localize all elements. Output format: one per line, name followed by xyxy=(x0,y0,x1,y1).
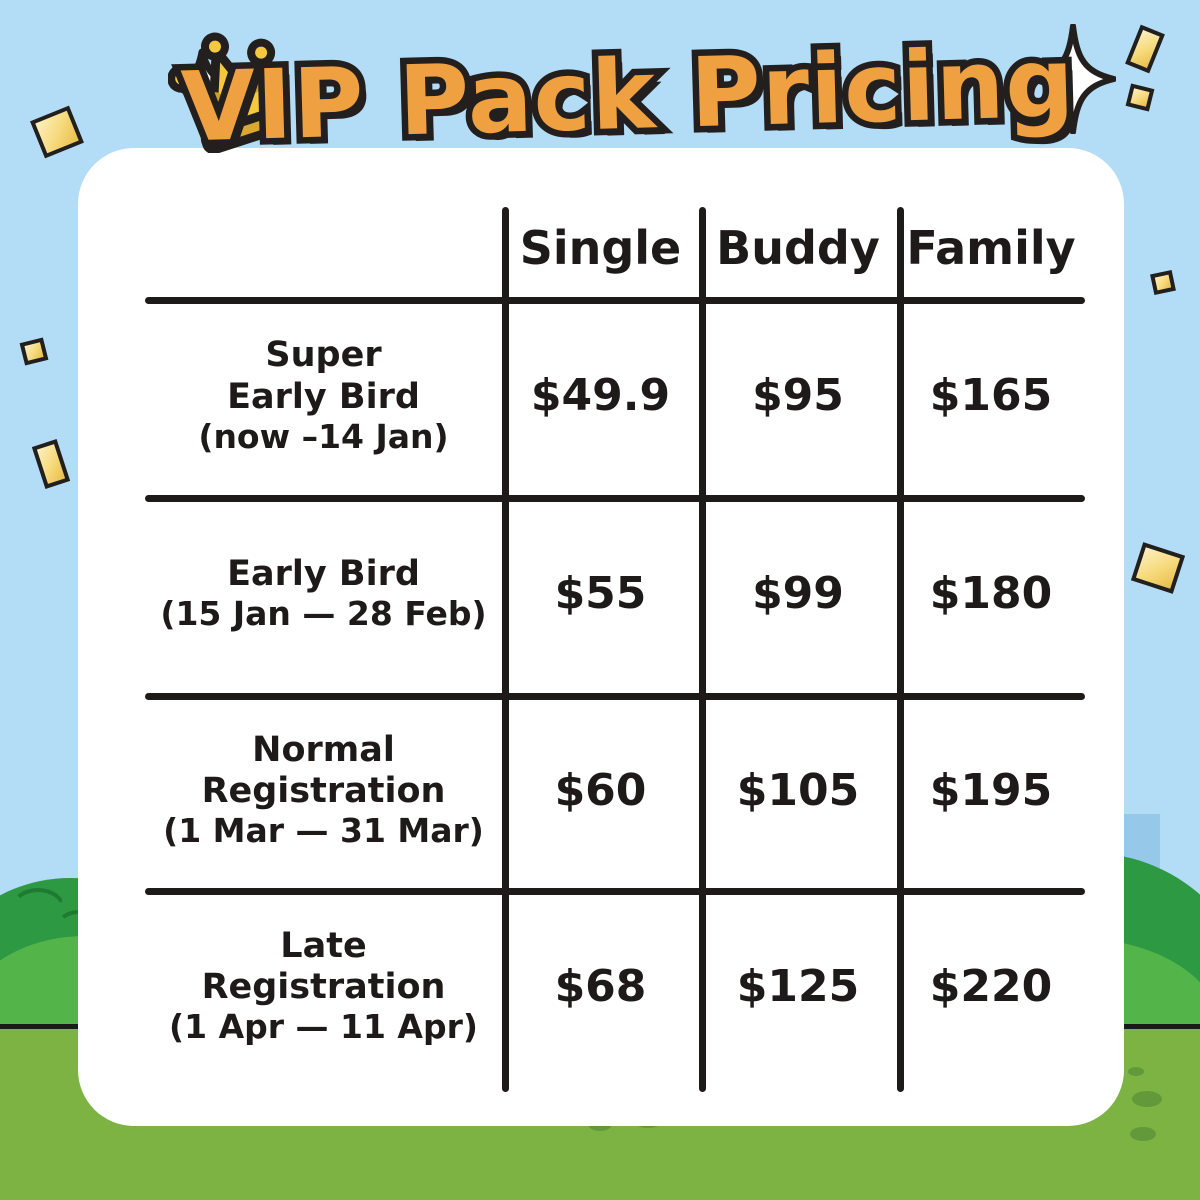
price-family: $165 xyxy=(897,297,1085,495)
table-row-label: Early Bird (15 Jan — 28 Feb) xyxy=(145,495,502,693)
tier-line: Early Bird xyxy=(227,554,420,595)
price-buddy: $99 xyxy=(699,495,897,693)
price-buddy: $95 xyxy=(699,297,897,495)
tier-date-range: (1 Mar — 31 Mar) xyxy=(163,812,484,851)
pricing-table: Single Buddy Family Super Early Bird (no… xyxy=(145,200,1085,1092)
tier-line: Early Bird xyxy=(227,377,420,418)
price-single: $49.9 xyxy=(502,297,699,495)
tier-line: Normal xyxy=(252,730,395,771)
tier-line: Registration xyxy=(202,967,446,1008)
page-title: VIP Pack Pricing xyxy=(0,20,1200,170)
column-header-family: Family xyxy=(897,200,1085,297)
price-single: $60 xyxy=(502,693,699,888)
column-header-single: Single xyxy=(502,200,699,297)
confetti-diamond xyxy=(1150,270,1176,295)
tier-date-range: (15 Jan — 28 Feb) xyxy=(160,595,486,634)
price-family: $195 xyxy=(897,693,1085,888)
price-family: $180 xyxy=(897,495,1085,693)
price-family: $220 xyxy=(897,888,1085,1085)
table-row-label: Late Registration (1 Apr — 11 Apr) xyxy=(145,888,502,1085)
ground-dot xyxy=(1130,1127,1156,1141)
tier-date-range: (now –14 Jan) xyxy=(198,418,448,457)
price-buddy: $105 xyxy=(699,693,897,888)
price-single: $68 xyxy=(502,888,699,1085)
tier-line: Super xyxy=(265,335,381,376)
tier-line: Late xyxy=(280,926,366,967)
ground-dot xyxy=(1128,1067,1144,1076)
price-buddy: $125 xyxy=(699,888,897,1085)
tier-date-range: (1 Apr — 11 Apr) xyxy=(169,1008,478,1047)
ground-dot xyxy=(1132,1091,1162,1107)
price-single: $55 xyxy=(502,495,699,693)
column-header-buddy: Buddy xyxy=(699,200,897,297)
table-row-label: Normal Registration (1 Mar — 31 Mar) xyxy=(145,693,502,888)
title-text: VIP Pack Pricing xyxy=(180,27,1077,164)
tier-line: Registration xyxy=(202,771,446,812)
table-row-label: Super Early Bird (now –14 Jan) xyxy=(145,297,502,495)
poster-canvas: VIP Pack Pricing Single Buddy Family Sup… xyxy=(0,0,1200,1200)
